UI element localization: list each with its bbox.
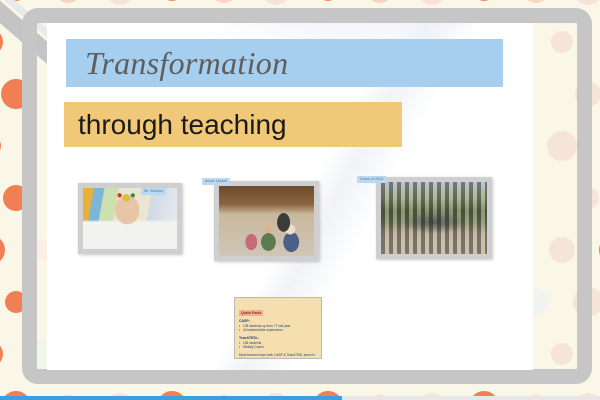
background-dot	[573, 0, 600, 5]
photo-group-outdoors-image	[381, 182, 487, 254]
facts-note-list-item: Weekly Coach	[239, 345, 317, 349]
presentation-progress-fill	[0, 396, 342, 400]
slide-canvas[interactable]: Transformation through teaching Mr. Boul…	[47, 23, 533, 370]
facts-note-footer: Most learners have both CASP & TeachTESL…	[239, 353, 317, 359]
photo-caption-tag-1[interactable]: Mr. Boulton	[141, 188, 166, 195]
background-dot	[317, 0, 339, 1]
background-dot	[161, 0, 183, 1]
facts-note-list-item: 44 teachers/site supervisors	[239, 328, 317, 332]
slide-subtitle: through teaching	[64, 109, 287, 141]
facts-note-group: TeachTESL:135 studentsWeekly Coach	[239, 336, 317, 350]
facts-note-list: 135 studentsWeekly Coach	[239, 341, 317, 350]
background-dot	[417, 0, 447, 5]
title-band[interactable]: Transformation	[66, 39, 503, 87]
background-dot	[105, 0, 135, 5]
subtitle-band[interactable]: through teaching	[64, 102, 402, 147]
background-dot	[473, 0, 495, 1]
facts-note-list: 108 students up from 77 last year44 teac…	[239, 324, 317, 333]
slide-title: Transformation	[66, 45, 288, 82]
facts-note-groups: CASP:108 students up from 77 last year44…	[239, 319, 317, 350]
photo-teacher-children[interactable]	[214, 181, 319, 261]
photo-teacher-children-image	[219, 186, 314, 256]
facts-note-group: CASP:108 students up from 77 last year44…	[239, 319, 317, 333]
facts-note-title: Quick Facts	[239, 310, 263, 316]
background-dot	[367, 0, 393, 3]
background-dot	[211, 0, 237, 3]
background-dot	[0, 341, 3, 367]
facts-note-box[interactable]: Quick Facts CASP:108 students up from 77…	[234, 297, 322, 359]
background-dot	[261, 0, 291, 5]
background-dot	[0, 235, 5, 265]
photo-teacher-crown[interactable]	[78, 183, 182, 254]
photo-group-outdoors[interactable]	[376, 177, 492, 259]
background-dot	[523, 0, 549, 3]
presentation-progress-track[interactable]	[0, 396, 600, 400]
photo-teacher-crown-image	[83, 188, 177, 249]
background-dot	[0, 29, 3, 55]
background-dot	[0, 135, 1, 157]
presentation-stage: Transformation through teaching Mr. Boul…	[0, 0, 600, 400]
background-dot	[55, 0, 81, 3]
photo-caption-tag-2[interactable]: Annie Larsen	[202, 178, 230, 185]
photo-caption-tag-3[interactable]: Class of 2013	[357, 176, 386, 183]
